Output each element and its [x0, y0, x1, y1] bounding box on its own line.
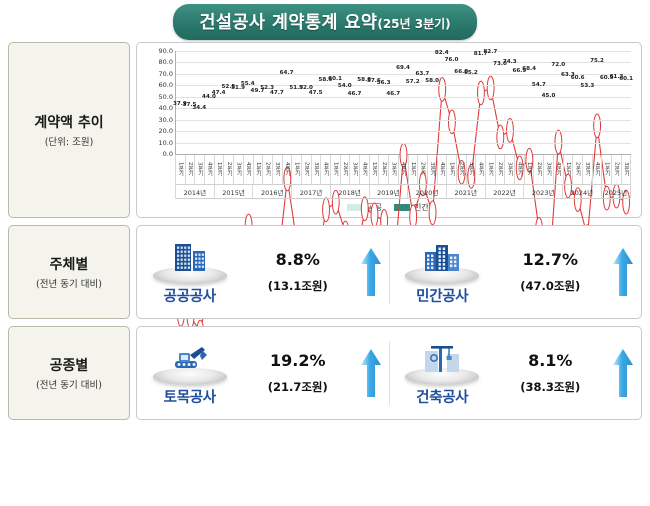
chart-quarter-tick: 3분기: [272, 155, 282, 184]
worktype-section-label: 공종별 (전년 동기 대비): [8, 326, 130, 420]
metric-amount: (21.7조원): [268, 379, 328, 395]
chart-quarter-tick: 4분기: [359, 155, 369, 184]
chart-quarter-tick-label: 1분기: [564, 162, 572, 176]
worktype-label-main: 공종별: [50, 355, 89, 375]
metric-percent: 8.8%: [276, 250, 320, 269]
chart-section: 계약액 추이 (단위: 조원) 0.010.020.030.040.050.06…: [0, 42, 650, 218]
chart-quarter-tick-label: 3분기: [312, 162, 320, 176]
chart-quarter-tick: 4분기: [475, 155, 485, 184]
chart-quarter-tick-label: 4분기: [438, 162, 446, 176]
chart-quarter-tick-label: 2분기: [264, 162, 272, 176]
chart-quarter-tick-label: 4분기: [515, 162, 523, 176]
chart-year-tick-label: 2020년: [416, 187, 439, 197]
trend-up-arrow-icon: [612, 348, 634, 398]
metric-amount: (47.0조원): [520, 278, 580, 294]
chart-data-label: 57.2: [406, 79, 420, 85]
chart-quarter-ticks: 1분기2분기3분기4분기1분기2분기3분기4분기1분기2분기3분기4분기1분기2…: [175, 155, 631, 185]
metric-icon-column: 민간공사: [390, 238, 494, 306]
chart-quarter-tick-label: 4분기: [244, 162, 252, 176]
chart-quarter-tick-label: 4분기: [283, 162, 291, 176]
chart-quarter-tick: 2분기: [611, 155, 621, 184]
chart-line-marker: [323, 198, 330, 222]
chart-quarter-tick: 3분기: [194, 155, 204, 184]
chart-quarter-tick: 4분기: [204, 155, 214, 184]
chart-quarter-tick-label: 3분기: [467, 162, 475, 176]
chart-quarter-tick-label: 1분기: [603, 162, 611, 176]
chart-year-tick: 2024년: [562, 185, 601, 199]
chart-data-label: 60.6: [571, 75, 585, 81]
chart-quarter-tick-label: 1분기: [409, 162, 417, 176]
chart-quarter-tick: 1분기: [330, 155, 340, 184]
chart-year-tick: 2015년: [214, 185, 253, 199]
chart-data-label: 76.0: [445, 57, 459, 63]
metric-icon-column: 건축공사: [390, 339, 494, 407]
metric-icon-column: 공공공사: [138, 238, 242, 306]
chart-y-tick-label: 80.0: [159, 58, 173, 66]
chart-year-tick: 2014년: [175, 185, 214, 199]
chart-quarter-tick: 1분기: [446, 155, 456, 184]
chart-year-tick-label: 2018년: [338, 187, 361, 197]
metric-glyph: [421, 341, 463, 379]
chart-quarter-tick-label: 4분기: [477, 162, 485, 176]
chart-quarter-tick-label: 3분기: [583, 162, 591, 176]
chart-quarter-tick-label: 3분기: [544, 162, 552, 176]
chart-data-label: 65.2: [464, 70, 478, 76]
chart-quarter-tick: 3분기: [349, 155, 359, 184]
chart-quarter-tick-label: 2분기: [457, 162, 465, 176]
chart-data-label: 60.1: [328, 76, 342, 82]
chart-quarter-tick: 2분기: [495, 155, 505, 184]
chart-quarter-tick: 1분기: [214, 155, 224, 184]
chart-quarter-tick-label: 4분기: [322, 162, 330, 176]
chart-quarter-tick-label: 4분기: [593, 162, 601, 176]
chart-quarter-tick-label: 1분기: [331, 162, 339, 176]
chart-y-tick-label: 60.0: [159, 81, 173, 89]
chart-quarter-tick: 1분기: [563, 155, 573, 184]
chart-year-tick: 2022년: [485, 185, 524, 199]
chart-y-tick-label: 90.0: [159, 47, 173, 55]
chart-quarter-tick-label: 3분기: [234, 162, 242, 176]
chart-quarter-tick: 3분기: [427, 155, 437, 184]
chart-data-label: 46.7: [348, 91, 362, 97]
chart-data-label: 58.0: [425, 78, 439, 84]
chart-quarter-tick: 3분기: [311, 155, 321, 184]
metric-amount: (38.3조원): [520, 379, 580, 395]
chart-quarter-tick: 2분기: [572, 155, 582, 184]
chart-data-label: 53.3: [580, 83, 594, 89]
chart-quarter-tick: 3분기: [582, 155, 592, 184]
chart-year-tick-label: 2022년: [493, 187, 516, 197]
chart-quarter-tick: 2분기: [417, 155, 427, 184]
chart-year-tick: 2023년: [523, 185, 562, 199]
chart-quarter-tick: 1분기: [601, 155, 611, 184]
metric-trend-column: [354, 348, 388, 398]
chart-quarter-tick-label: 2분기: [341, 162, 349, 176]
chart-quarter-tick-label: 2분기: [186, 162, 194, 176]
trend-up-arrow-icon: [360, 348, 382, 398]
chart-quarter-tick-label: 3분기: [506, 162, 514, 176]
worktype-section: 공종별 (전년 동기 대비) 토목공사19.2%(21.7조원)건축공사8.1%…: [0, 326, 650, 420]
chart-label-main: 계약액 추이: [34, 112, 103, 132]
chart-data-label: 47.4: [212, 90, 226, 96]
chart-data-label: 64.7: [280, 70, 294, 76]
chart-quarter-tick-label: 2분기: [612, 162, 620, 176]
chart-quarter-tick: 1분기: [485, 155, 495, 184]
chart-year-tick: 2025년: [601, 185, 631, 199]
metric-glyph: [169, 341, 211, 379]
chart-year-tick-label: 2023년: [532, 187, 555, 197]
chart-y-tick-label: 70.0: [159, 70, 173, 78]
chart-y-tick-label: 10.0: [159, 139, 173, 147]
chart-quarter-tick-label: 3분기: [351, 162, 359, 176]
chart-quarter-tick-label: 4분기: [554, 162, 562, 176]
metric-value-column: 8.1%(38.3조원): [504, 351, 596, 395]
trend-up-arrow-icon: [360, 247, 382, 297]
chart-quarter-tick: 1분기: [253, 155, 263, 184]
chart-quarter-tick: 1분기: [291, 155, 301, 184]
office-buildings-icon: [169, 240, 211, 274]
chart-year-tick-label: 2021년: [455, 187, 478, 197]
chart-quarter-tick: 2분기: [185, 155, 195, 184]
chart-quarter-tick-label: 2분기: [380, 162, 388, 176]
chart-line-marker: [371, 203, 378, 227]
chart-quarter-tick: 2분기: [456, 155, 466, 184]
chart-quarter-tick-label: 1분기: [486, 162, 494, 176]
crane-building-icon: [421, 341, 463, 375]
metric-label: 민간공사: [416, 285, 468, 306]
metric-item: 토목공사19.2%(21.7조원): [137, 327, 389, 419]
chart-data-label: 69.4: [396, 65, 410, 71]
chart-quarter-tick: 2분기: [301, 155, 311, 184]
chart-y-tick-label: 20.0: [159, 127, 173, 135]
chart-quarter-tick-label: 2분기: [496, 162, 504, 176]
chart-quarter-tick: 4분기: [437, 155, 447, 184]
chart-quarter-tick: 2분기: [378, 155, 388, 184]
metric-glyph: [169, 240, 211, 278]
chart-quarter-tick: 4분기: [398, 155, 408, 184]
chart-section-label: 계약액 추이 (단위: 조원): [8, 42, 130, 218]
title-banner: 건설공사 계약통계 요약 (25년 3분기): [173, 4, 476, 40]
chart-quarter-tick: 3분기: [621, 155, 632, 184]
chart-x-axis: 1분기2분기3분기4분기1분기2분기3분기4분기1분기2분기3분기4분기1분기2…: [175, 155, 631, 199]
chart-quarter-tick-label: 1분기: [293, 162, 301, 176]
chart-quarter-tick: 4분기: [592, 155, 602, 184]
metric-label: 토목공사: [164, 386, 216, 407]
chart-quarter-tick: 4분기: [282, 155, 292, 184]
metric-label: 건축공사: [416, 386, 468, 407]
chart-data-label: 82.7: [483, 49, 497, 55]
chart-label-unit: (단위: 조원): [45, 134, 94, 148]
chart-quarter-tick-label: 3분기: [428, 162, 436, 176]
chart-quarter-tick-label: 2분기: [535, 162, 543, 176]
chart-quarter-tick-label: 2분기: [419, 162, 427, 176]
chart-line-marker: [361, 197, 368, 221]
metric-value-column: 12.7%(47.0조원): [504, 250, 596, 294]
chart-year-tick: 2020년: [407, 185, 446, 199]
chart-quarter-tick: 2분기: [262, 155, 272, 184]
chart-quarter-tick-label: 1분기: [176, 162, 184, 176]
chart-quarter-tick: 2분기: [223, 155, 233, 184]
subject-label-main: 주체별: [50, 254, 89, 274]
chart-data-label: 54.0: [338, 83, 352, 89]
metric-trend-column: [354, 247, 388, 297]
chart-quarter-tick: 3분기: [388, 155, 398, 184]
chart-data-label: 82.4: [435, 50, 449, 56]
excavator-icon: [169, 341, 211, 375]
chart-y-tick-label: 0.0: [163, 150, 173, 158]
worktype-label-unit: (전년 동기 대비): [36, 377, 102, 391]
chart-y-tick-label: 30.0: [159, 116, 173, 124]
chart-quarter-tick-label: 1분기: [370, 162, 378, 176]
chart-year-tick: 2021년: [446, 185, 485, 199]
chart-data-label: 56.3: [377, 80, 391, 86]
chart-quarter-tick: 3분기: [543, 155, 553, 184]
worktype-panel: 토목공사19.2%(21.7조원)건축공사8.1%(38.3조원): [136, 326, 642, 420]
chart-y-tick-label: 40.0: [159, 104, 173, 112]
chart-quarter-tick: 3분기: [233, 155, 243, 184]
chart-quarter-tick-label: 1분기: [448, 162, 456, 176]
chart-data-label: 34.4: [192, 105, 206, 111]
chart-quarter-tick: 3분기: [504, 155, 514, 184]
chart-quarter-tick-label: 1분기: [215, 162, 223, 176]
chart-year-ticks: 2014년2015년2016년2017년2018년2019년2020년2021년…: [175, 185, 631, 199]
chart-quarter-tick-label: 1분기: [254, 162, 262, 176]
subject-panel: 공공공사8.8%(13.1조원)민간공사12.7%(47.0조원): [136, 225, 642, 319]
chart-canvas: 0.010.020.030.040.050.060.070.080.090.0 …: [141, 47, 635, 197]
chart-data-label: 47.5: [309, 90, 323, 96]
chart-line-marker: [429, 201, 436, 225]
chart-year-tick-label: 2024년: [571, 187, 594, 197]
chart-data-label: 72.0: [551, 62, 565, 68]
chart-quarter-tick: 4분기: [243, 155, 253, 184]
page-header: 건설공사 계약통계 요약 (25년 3분기): [0, 0, 650, 40]
chart-quarter-tick-label: 4분기: [399, 162, 407, 176]
metric-icon-column: 토목공사: [138, 339, 242, 407]
chart-data-label: 47.7: [270, 90, 284, 96]
chart-data-labels: 37.937.534.444.047.452.551.955.449.752.3…: [175, 47, 631, 155]
subject-section-label: 주체별 (전년 동기 대비): [8, 225, 130, 319]
metric-trend-column: [606, 247, 640, 297]
metric-percent: 19.2%: [270, 351, 326, 370]
city-buildings-icon: [421, 240, 463, 274]
chart-year-tick-label: 2017년: [300, 187, 323, 197]
chart-quarter-tick-label: 3분기: [389, 162, 397, 176]
chart-quarter-tick: 2분기: [533, 155, 543, 184]
chart-quarter-tick: 1분기: [175, 155, 185, 184]
chart-quarter-tick-label: 3분기: [622, 162, 630, 176]
chart-year-tick-label: 2015년: [222, 187, 245, 197]
chart-data-label: 75.2: [590, 58, 604, 64]
metric-label: 공공공사: [164, 285, 216, 306]
chart-quarter-tick-label: 4분기: [205, 162, 213, 176]
metric-icon-pedestal: [151, 339, 229, 385]
chart-year-tick-label: 2016년: [261, 187, 284, 197]
chart-year-tick-label: 2025년: [605, 187, 628, 197]
chart-data-label: 68.4: [522, 66, 536, 72]
chart-quarter-tick-label: 3분기: [273, 162, 281, 176]
metric-icon-pedestal: [403, 238, 481, 284]
chart-quarter-tick: 2분기: [340, 155, 350, 184]
chart-data-label: 74.3: [503, 59, 517, 65]
chart-data-label: 54.7: [532, 82, 546, 88]
chart-quarter-tick: 1분기: [369, 155, 379, 184]
chart-panel: 0.010.020.030.040.050.060.070.080.090.0 …: [136, 42, 642, 218]
chart-quarter-tick: 4분기: [553, 155, 563, 184]
chart-data-label: 55.4: [241, 81, 255, 87]
subject-section: 주체별 (전년 동기 대비) 공공공사8.8%(13.1조원)민간공사12.7%…: [0, 225, 650, 319]
chart-data-label: 46.7: [386, 91, 400, 97]
metric-amount: (13.1조원): [268, 278, 328, 294]
metric-value-column: 8.8%(13.1조원): [252, 250, 344, 294]
chart-quarter-tick: 1분기: [408, 155, 418, 184]
chart-year-tick: 2019년: [369, 185, 408, 199]
chart-data-label: 45.0: [542, 93, 556, 99]
metric-item: 공공공사8.8%(13.1조원): [137, 226, 389, 318]
metric-icon-pedestal: [403, 339, 481, 385]
chart-quarter-tick-label: 2분기: [574, 162, 582, 176]
chart-year-tick-label: 2014년: [184, 187, 207, 197]
chart-quarter-tick-label: 1분기: [525, 162, 533, 176]
metric-percent: 8.1%: [528, 351, 572, 370]
metric-value-column: 19.2%(21.7조원): [252, 351, 344, 395]
chart-data-label: 60.1: [619, 76, 633, 82]
metric-trend-column: [606, 348, 640, 398]
page-title-period: (25년 3분기): [377, 15, 450, 32]
metric-icon-pedestal: [151, 238, 229, 284]
chart-quarter-tick-label: 4분기: [360, 162, 368, 176]
chart-quarter-tick: 1분기: [524, 155, 534, 184]
chart-data-label: 63.7: [415, 71, 429, 77]
chart-quarter-tick: 4분기: [514, 155, 524, 184]
metric-item: 건축공사8.1%(38.3조원): [390, 327, 642, 419]
chart-year-tick: 2017년: [291, 185, 330, 199]
chart-quarter-tick-label: 2분기: [225, 162, 233, 176]
chart-y-tick-label: 50.0: [159, 93, 173, 101]
trend-up-arrow-icon: [612, 247, 634, 297]
chart-quarter-tick: 4분기: [320, 155, 330, 184]
chart-year-tick: 2016년: [252, 185, 291, 199]
chart-year-tick: 2018년: [330, 185, 369, 199]
metric-percent: 12.7%: [522, 250, 578, 269]
chart-year-tick-label: 2019년: [377, 187, 400, 197]
metric-item: 민간공사12.7%(47.0조원): [390, 226, 642, 318]
chart-quarter-tick-label: 2분기: [302, 162, 310, 176]
chart-quarter-tick-label: 3분기: [196, 162, 204, 176]
chart-quarter-tick: 3분기: [466, 155, 476, 184]
page-title: 건설공사 계약통계 요약: [199, 9, 377, 34]
subject-label-unit: (전년 동기 대비): [36, 276, 102, 290]
metric-glyph: [421, 240, 463, 278]
